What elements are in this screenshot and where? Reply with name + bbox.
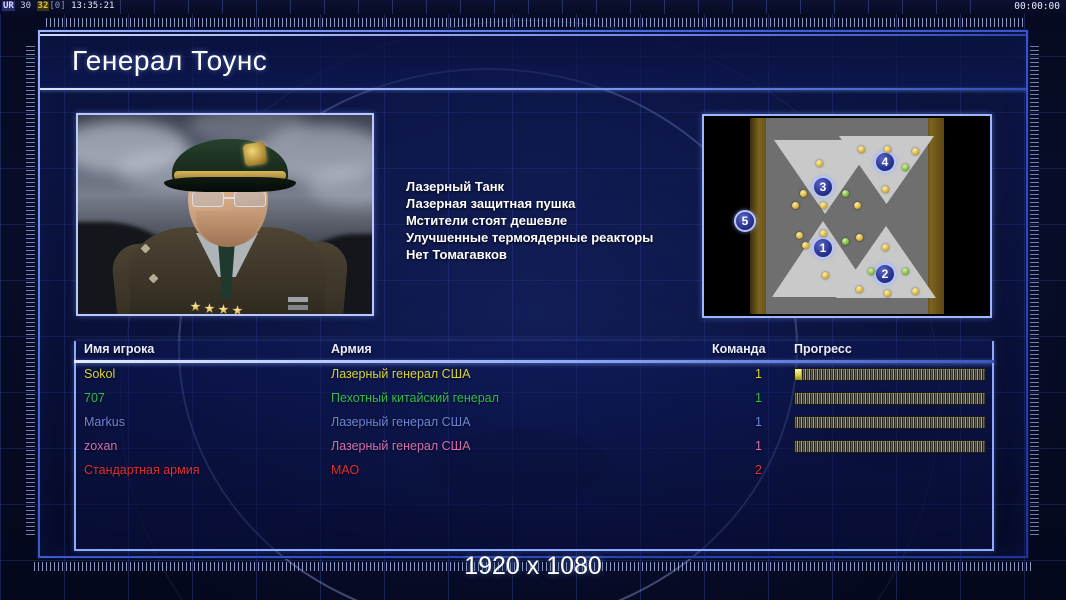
topbar-num1: 30 xyxy=(20,1,31,11)
player-army: Лазерный генерал США xyxy=(331,437,691,455)
description-line: Нет Томагавков xyxy=(406,246,653,263)
player-progress-fill xyxy=(795,369,801,380)
player-team: 1 xyxy=(700,413,762,431)
topbar-timer: 00:00:00 xyxy=(1014,0,1060,13)
player-name: Markus xyxy=(84,413,314,431)
portrait-cap-insignia xyxy=(243,142,268,167)
description-line: Мстители стоят дешевле xyxy=(406,212,653,229)
map-preview-frame[interactable]: 3 4 1 2 5 xyxy=(702,114,992,318)
player-army: Лазерный генерал США xyxy=(331,413,691,431)
general-description: Лазерный Танк Лазерная защитная пушка Мс… xyxy=(406,178,653,263)
topbar-clock: 13:35:21 xyxy=(71,1,114,11)
player-team: 1 xyxy=(700,365,762,383)
portrait-glasses xyxy=(190,191,268,207)
title-rule-bottom xyxy=(40,88,1026,90)
game-setup-screen: UR 30 32[0] 13:35:21 00:00:00 Генерал То… xyxy=(0,0,1066,600)
ruler-top xyxy=(46,18,1026,27)
top-status-bar: UR 30 32[0] 13:35:21 00:00:00 xyxy=(0,0,1066,14)
player-progress-bar xyxy=(794,416,986,429)
page-title: Генерал Тоунс xyxy=(72,45,267,77)
topbar-debug-info: UR 30 32[0] 13:35:21 xyxy=(2,0,114,13)
player-name: Стандартная армия xyxy=(84,461,314,479)
player-army: Лазерный генерал США xyxy=(331,365,691,383)
player-team: 1 xyxy=(700,389,762,407)
player-name: zoxan xyxy=(84,437,314,455)
column-header-name: Имя игрока xyxy=(84,342,314,356)
table-row[interactable]: 707Пехотный китайский генерал1 xyxy=(0,389,1066,413)
player-name: Sokol xyxy=(84,365,314,383)
title-rule-top xyxy=(40,34,1026,36)
map-start-marker-4: 4 xyxy=(874,151,896,173)
description-line: Лазерная защитная пушка xyxy=(406,195,653,212)
topbar-num2: 32 xyxy=(37,1,50,11)
player-army: Пехотный китайский генерал xyxy=(331,389,691,407)
topbar-label: UR xyxy=(2,1,15,11)
topbar-bracket: [0] xyxy=(49,1,65,11)
map-preview-image: 3 4 1 2 5 xyxy=(706,118,988,314)
table-row[interactable]: zoxanЛазерный генерал США1 xyxy=(0,437,1066,461)
general-portrait-image xyxy=(78,115,372,314)
resolution-label: 1920 x 1080 xyxy=(0,552,1066,581)
map-start-marker-2: 2 xyxy=(874,263,896,285)
map-start-marker-1: 1 xyxy=(812,237,834,259)
table-row[interactable]: MarkusЛазерный генерал США1 xyxy=(0,413,1066,437)
column-header-team: Команда xyxy=(712,342,766,356)
player-team: 2 xyxy=(700,461,762,479)
player-progress-bar xyxy=(794,440,986,453)
map-start-marker-5: 5 xyxy=(734,210,756,232)
description-line: Улучшенные термоядерные реакторы xyxy=(406,229,653,246)
player-progress-bar xyxy=(794,392,986,405)
column-header-progress: Прогресс xyxy=(794,342,852,356)
column-header-army: Армия xyxy=(331,342,691,356)
portrait-cap-brim xyxy=(164,177,296,192)
player-progress-bar xyxy=(794,368,986,381)
map-start-marker-3: 3 xyxy=(812,176,834,198)
table-row[interactable]: Стандартная армияМАО2 xyxy=(0,461,1066,485)
table-header-rule xyxy=(74,360,994,363)
topbar-tick-marks xyxy=(120,0,980,14)
player-name: 707 xyxy=(84,389,314,407)
general-portrait-frame xyxy=(76,113,374,316)
description-line: Лазерный Танк xyxy=(406,178,653,195)
player-team: 1 xyxy=(700,437,762,455)
table-row[interactable]: SokolЛазерный генерал США1 xyxy=(0,365,1066,389)
player-army: МАО xyxy=(331,461,691,479)
